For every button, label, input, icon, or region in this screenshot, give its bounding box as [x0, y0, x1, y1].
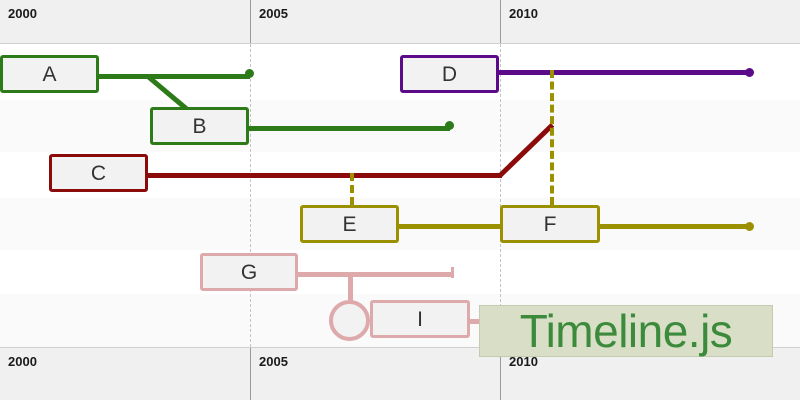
event-box-e[interactable]: E	[300, 205, 399, 243]
axis-tick-2010-top: 2010	[500, 0, 501, 43]
event-box-g[interactable]: G	[200, 253, 298, 291]
connector-c-to-e	[350, 173, 354, 205]
event-line-b	[249, 126, 450, 131]
event-line-d	[498, 70, 750, 75]
node-circle-i[interactable]	[329, 300, 370, 341]
axis-label-2005-bottom: 2005	[259, 354, 288, 369]
event-box-i[interactable]: I	[370, 300, 470, 338]
endpoint-dot-a	[245, 69, 254, 78]
event-line-g	[296, 272, 452, 277]
axis-label-2010-top: 2010	[509, 6, 538, 21]
timeline-chart: 2000 2005 2010 A B	[0, 0, 800, 400]
event-box-b[interactable]: B	[150, 107, 249, 145]
event-label-b: B	[192, 116, 206, 137]
event-box-a[interactable]: A	[0, 55, 99, 93]
axis-tick-2005-top: 2005	[250, 0, 251, 43]
event-box-c[interactable]: C	[49, 154, 148, 192]
event-line-a	[99, 74, 250, 79]
axis-tick-2005-bottom: 2005	[250, 348, 251, 400]
axis-label-2005-top: 2005	[259, 6, 288, 21]
top-axis-band: 2000 2005 2010	[0, 0, 800, 44]
event-line-f	[598, 224, 750, 229]
event-label-g: G	[241, 262, 257, 283]
gridline-2005	[250, 44, 251, 347]
endpoint-dot-f	[745, 222, 754, 231]
event-label-f: F	[544, 214, 557, 235]
axis-label-2000-top: 2000	[8, 6, 37, 21]
event-box-f[interactable]: F	[500, 205, 600, 243]
watermark-text: Timeline.js	[520, 308, 733, 354]
event-label-c: C	[91, 163, 106, 184]
connector-d-to-f	[550, 70, 554, 205]
event-label-i: I	[417, 309, 423, 330]
timeline-plot-area: A B C D E F	[0, 44, 800, 347]
event-label-e: E	[342, 214, 356, 235]
gridline-2010	[500, 44, 501, 347]
endpoint-dot-d	[745, 68, 754, 77]
event-label-d: D	[442, 64, 457, 85]
event-line-e	[397, 224, 502, 229]
timeline-watermark: Timeline.js	[479, 305, 773, 357]
axis-label-2000-bottom: 2000	[8, 354, 37, 369]
event-label-a: A	[42, 64, 56, 85]
endpoint-bar-g	[451, 267, 454, 278]
endpoint-dot-b	[445, 121, 454, 130]
event-box-d[interactable]: D	[400, 55, 499, 93]
event-line-c	[147, 173, 502, 178]
